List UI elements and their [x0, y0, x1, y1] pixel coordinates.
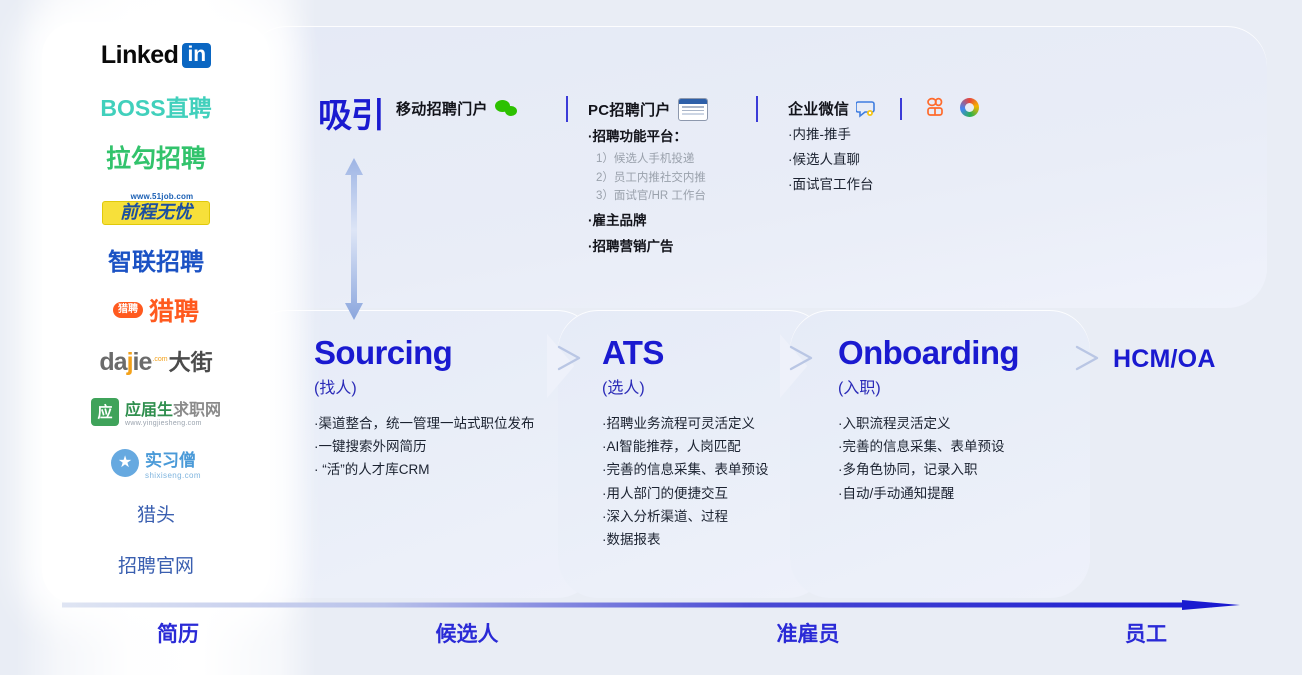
axis-label-0: 简历: [157, 618, 199, 648]
pc-portal-title: PC招聘门户: [588, 99, 671, 120]
boss-zhipin-logo: BOSS直聘: [100, 89, 211, 123]
ats-title: ATS: [602, 336, 802, 369]
list-item[interactable]: dajie .com 大街: [42, 335, 270, 386]
partner-icon-group: [925, 97, 979, 117]
diagram-canvas: Linked in BOSS直聘 拉勾招聘 www.51job.com 前程无忧…: [0, 0, 1302, 675]
linkedin-logo: Linked in: [101, 41, 211, 70]
zhilian-logo: 智联招聘: [108, 242, 204, 277]
dajie-en-wordmark: dajie: [99, 348, 151, 377]
list-item[interactable]: 应 应届生求职网 www.yingjiesheng.com: [42, 386, 270, 437]
career-site-label: 招聘官网: [118, 551, 194, 578]
yingjiesheng-url: www.yingjiesheng.com: [125, 420, 221, 427]
job51-logo: www.51job.com 前程无忧: [102, 192, 210, 225]
timeline-labels: 简历 候选人 准雇员 员工: [0, 618, 1302, 658]
pc-portal-bullet-2: ·招聘营销广告: [588, 238, 778, 256]
wechat-icon: [495, 100, 519, 118]
dingtalk-icon: [925, 97, 946, 117]
ats-card: ATS (选人) ·招聘业务流程可灵活定义 ·AI智能推荐，人岗匹配 ·完善的信…: [602, 336, 802, 551]
list-item[interactable]: Linked in: [42, 30, 270, 81]
list-item[interactable]: ★ 实习僧 shixiseng.com: [42, 437, 270, 488]
shixiseng-icon: ★: [111, 449, 139, 477]
vertical-double-arrow-icon: [344, 158, 364, 320]
enterprise-wechat-bullet-1: ·候选人直聊: [788, 151, 988, 169]
onboarding-item-1: ·完善的信息采集、表单预设: [838, 435, 1068, 458]
headhunter-label: 猎头: [137, 500, 175, 527]
ats-item-1: ·AI智能推荐，人岗匹配: [602, 435, 802, 458]
sourcing-item-2: · “活”的人才库CRM: [314, 458, 554, 481]
onboarding-subtitle: (入职): [838, 374, 1068, 398]
liepin-wordmark: 猎聘: [149, 292, 199, 328]
pc-portal-sub-2: 3）面试官/HR 工作台: [596, 187, 778, 205]
axis-label-3: 员工: [1125, 618, 1167, 648]
list-item[interactable]: 智联招聘: [42, 234, 270, 285]
yingjiesheng-wordmark: 应届生求职网: [125, 396, 221, 420]
lagou-logo: 拉勾招聘: [106, 139, 206, 175]
list-item[interactable]: 猎头: [42, 488, 270, 539]
onboarding-card: Onboarding (入职) ·入职流程灵活定义 ·完善的信息采集、表单预设 …: [838, 336, 1068, 505]
monitor-icon: [678, 98, 708, 121]
onboarding-item-2: ·多角色协同，记录入职: [838, 458, 1068, 481]
enterprise-wechat-bullet-0: ·内推-推手: [788, 126, 988, 144]
dajie-logo: dajie .com 大街: [99, 345, 212, 377]
job51-url: www.51job.com: [108, 192, 216, 201]
pc-portal-bullet-1: ·雇主品牌: [588, 212, 778, 230]
linkedin-wordmark: Linked: [101, 41, 179, 70]
divider-3: [900, 98, 902, 120]
chevron-right-icon-1: [557, 345, 587, 371]
mobile-portal-block: 移动招聘门户: [396, 98, 519, 119]
pc-portal-sub-0: 1）候选人手机投递: [596, 150, 778, 168]
ats-item-0: ·招聘业务流程可灵活定义: [602, 412, 802, 435]
linkedin-in-icon: in: [182, 43, 211, 68]
shixiseng-wordmark: 实习僧: [145, 446, 201, 471]
ats-item-5: ·数据报表: [602, 528, 802, 551]
list-item[interactable]: www.51job.com 前程无忧: [42, 183, 270, 234]
liepin-logo: 猎聘 猎聘: [113, 292, 199, 328]
pc-portal-bullet-0: ·招聘功能平台：: [588, 128, 778, 146]
sourcing-subtitle: (找人): [314, 374, 554, 398]
chat-bubble-icon: [856, 100, 876, 118]
ats-item-2: ·完善的信息采集、表单预设: [602, 458, 802, 481]
divider-2: [756, 96, 758, 122]
list-item[interactable]: 拉勾招聘: [42, 132, 270, 183]
pc-portal-sub-1: 2）员工内推社交内推: [596, 169, 778, 187]
sourcing-item-0: ·渠道整合，统一管理一站式职位发布: [314, 412, 554, 435]
yingjiesheng-icon: 应: [91, 398, 119, 426]
pc-portal-block: PC招聘门户 ·招聘功能平台： 1）候选人手机投递 2）员工内推社交内推 3）面…: [588, 98, 778, 256]
yingjiesheng-logo: 应 应届生求职网 www.yingjiesheng.com: [91, 396, 221, 427]
sourcing-card: Sourcing (找人) ·渠道整合，统一管理一站式职位发布 ·一键搜索外网简…: [314, 336, 554, 482]
sourcing-item-1: ·一键搜索外网简历: [314, 435, 554, 458]
attract-title: 吸引: [318, 88, 384, 137]
mobile-portal-title: 移动招聘门户: [396, 98, 488, 119]
ats-item-4: ·深入分析渠道、过程: [602, 505, 802, 528]
list-item[interactable]: 招聘官网: [42, 539, 270, 590]
enterprise-wechat-bullet-2: ·面试官工作台: [788, 176, 988, 194]
chevron-right-icon-3: [1075, 345, 1105, 371]
dajie-domain: .com: [152, 356, 167, 363]
shixiseng-url: shixiseng.com: [145, 471, 201, 480]
axis-label-2: 准雇员: [777, 618, 840, 648]
list-item[interactable]: BOSS直聘: [42, 81, 270, 132]
chevron-right-icon-2: [789, 345, 819, 371]
source-logo-list: Linked in BOSS直聘 拉勾招聘 www.51job.com 前程无忧…: [42, 30, 270, 590]
onboarding-item-0: ·入职流程灵活定义: [838, 412, 1068, 435]
rainbow-ring-icon: [960, 98, 979, 117]
job51-wordmark: 前程无忧: [102, 201, 210, 225]
hcm-oa-label: HCM/OA: [1113, 345, 1216, 374]
onboarding-title: Onboarding: [838, 336, 1068, 369]
ats-subtitle: (选人): [602, 374, 802, 398]
onboarding-item-3: ·自动/手动通知提醒: [838, 482, 1068, 505]
enterprise-wechat-title: 企业微信: [788, 98, 849, 119]
divider-1: [566, 96, 568, 122]
sourcing-title: Sourcing: [314, 336, 554, 369]
list-item[interactable]: 猎聘 猎聘: [42, 285, 270, 336]
axis-label-1: 候选人: [436, 618, 499, 648]
shixiseng-logo: ★ 实习僧 shixiseng.com: [111, 446, 201, 480]
ats-item-3: ·用人部门的便捷交互: [602, 482, 802, 505]
dajie-cn-wordmark: 大街: [169, 345, 213, 377]
liepin-badge-icon: 猎聘: [113, 302, 143, 318]
timeline-arrow: [62, 600, 1240, 610]
